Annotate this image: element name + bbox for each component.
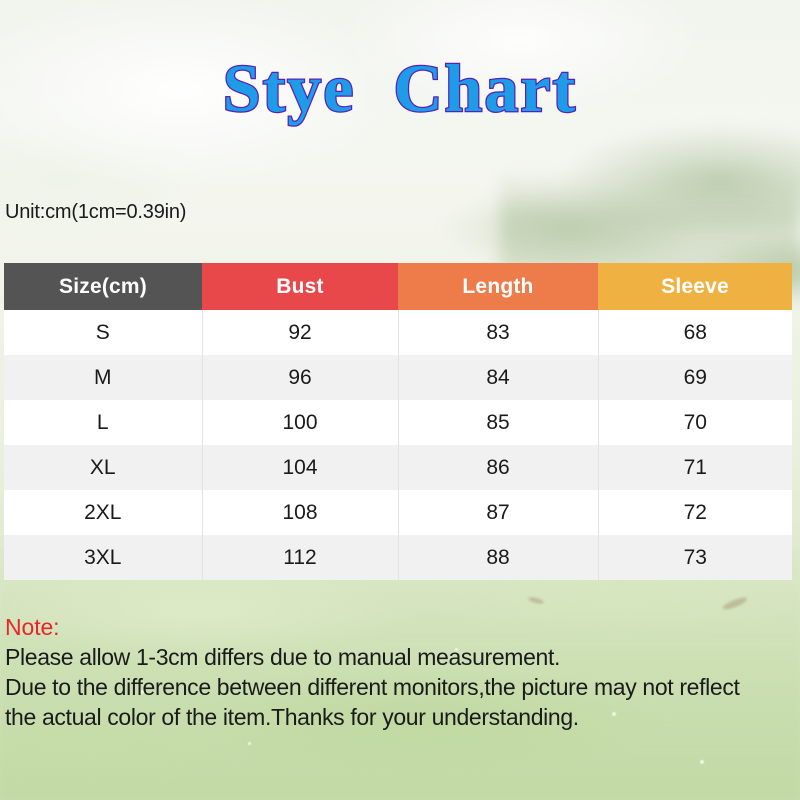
table-body: S 92 83 68 M 96 84 69 L 100 85 70 XL 104… xyxy=(4,310,792,580)
cell-length: 83 xyxy=(398,310,598,355)
cell-bust: 112 xyxy=(202,535,398,580)
background-speck xyxy=(700,760,704,764)
unit-note: Unit:cm(1cm=0.39in) xyxy=(5,201,186,224)
cell-sleeve: 69 xyxy=(598,355,792,400)
note-heading: Note: xyxy=(5,612,793,642)
note-block: Note: Please allow 1-3cm differs due to … xyxy=(5,612,793,732)
column-header-sleeve: Sleeve xyxy=(598,263,792,310)
cell-size: M xyxy=(4,355,202,400)
size-chart-page: Stye Chart Unit:cm(1cm=0.39in) Size(cm) … xyxy=(0,0,800,800)
background-speck xyxy=(248,742,251,745)
cell-sleeve: 70 xyxy=(598,400,792,445)
cell-length: 87 xyxy=(398,490,598,535)
table-row: 2XL 108 87 72 xyxy=(4,490,792,535)
cell-size: XL xyxy=(4,445,202,490)
note-line-1: Please allow 1-3cm differs due to manual… xyxy=(5,642,793,672)
cell-bust: 104 xyxy=(202,445,398,490)
table-row: XL 104 86 71 xyxy=(4,445,792,490)
cell-size: L xyxy=(4,400,202,445)
page-title: Stye Chart xyxy=(0,54,800,122)
table-row: M 96 84 69 xyxy=(4,355,792,400)
cell-sleeve: 68 xyxy=(598,310,792,355)
table-header-row: Size(cm) Bust Length Sleeve xyxy=(4,263,792,310)
cell-size: 2XL xyxy=(4,490,202,535)
cell-bust: 108 xyxy=(202,490,398,535)
cell-bust: 100 xyxy=(202,400,398,445)
table-row: L 100 85 70 xyxy=(4,400,792,445)
cell-bust: 96 xyxy=(202,355,398,400)
cell-sleeve: 72 xyxy=(598,490,792,535)
note-line-2: Due to the difference between different … xyxy=(5,672,793,702)
table-header: Size(cm) Bust Length Sleeve xyxy=(4,263,792,310)
cell-length: 84 xyxy=(398,355,598,400)
cell-length: 85 xyxy=(398,400,598,445)
note-line-3: the actual color of the item.Thanks for … xyxy=(5,702,793,732)
column-header-size: Size(cm) xyxy=(4,263,202,310)
column-header-bust: Bust xyxy=(202,263,398,310)
size-chart-table: Size(cm) Bust Length Sleeve S 92 83 68 M… xyxy=(4,263,792,580)
table-row: 3XL 112 88 73 xyxy=(4,535,792,580)
cell-size: 3XL xyxy=(4,535,202,580)
cell-size: S xyxy=(4,310,202,355)
cell-sleeve: 71 xyxy=(598,445,792,490)
cell-sleeve: 73 xyxy=(598,535,792,580)
cell-length: 86 xyxy=(398,445,598,490)
cell-length: 88 xyxy=(398,535,598,580)
column-header-length: Length xyxy=(398,263,598,310)
cell-bust: 92 xyxy=(202,310,398,355)
table-row: S 92 83 68 xyxy=(4,310,792,355)
